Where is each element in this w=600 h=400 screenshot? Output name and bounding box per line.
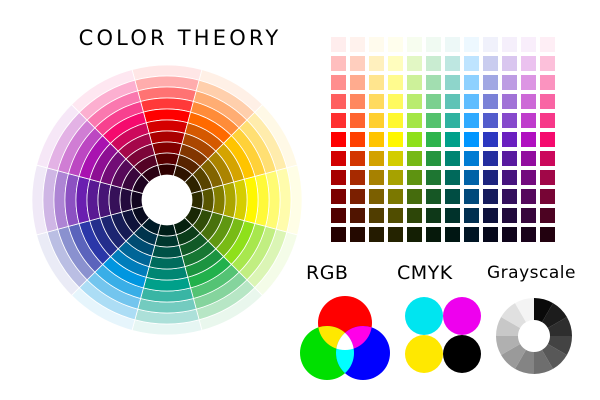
palette-swatch-r9-c1 — [350, 208, 365, 223]
palette-swatch-r2-c7 — [464, 75, 479, 90]
palette-swatch-r8-c5 — [426, 189, 441, 204]
grayscale-segments — [496, 298, 572, 374]
palette-swatch-r10-c3 — [388, 227, 403, 242]
palette-swatch-r0-c7 — [464, 37, 479, 52]
palette-swatch-r1-c9 — [502, 56, 517, 71]
palette-swatch-r10-c2 — [369, 227, 384, 242]
palette-swatch-r5-c3 — [388, 132, 403, 147]
palette-swatch-r8-c8 — [483, 189, 498, 204]
palette-swatch-r4-c11 — [540, 113, 555, 128]
palette-swatch-r5-c8 — [483, 132, 498, 147]
palette-swatch-r0-c11 — [540, 37, 555, 52]
palette-grid — [331, 37, 555, 242]
palette-swatch-r6-c1 — [350, 151, 365, 166]
palette-swatch-r2-c1 — [350, 75, 365, 90]
wheel-segment-teal-9 — [158, 224, 177, 236]
palette-swatch-r3-c1 — [350, 94, 365, 109]
palette-swatch-r7-c3 — [388, 170, 403, 185]
palette-swatch-r7-c4 — [407, 170, 422, 185]
wheel-segment-red-8 — [155, 153, 179, 165]
palette-swatch-r6-c8 — [483, 151, 498, 166]
palette-swatch-r2-c3 — [388, 75, 403, 90]
palette-swatch-r0-c3 — [388, 37, 403, 52]
palette-swatch-r9-c9 — [502, 208, 517, 223]
palette-swatch-r10-c1 — [350, 227, 365, 242]
wheel-center-hole — [142, 175, 192, 225]
palette-swatch-r3-c4 — [407, 94, 422, 109]
palette-swatch-r1-c10 — [521, 56, 536, 71]
wheel-segment-violet-8 — [120, 188, 132, 212]
palette-swatch-r7-c9 — [502, 170, 517, 185]
palette-swatch-r4-c6 — [445, 113, 460, 128]
palette-swatch-r2-c11 — [540, 75, 555, 90]
palette-swatch-r4-c3 — [388, 113, 403, 128]
palette-swatch-r4-c9 — [502, 113, 517, 128]
black-dot — [443, 335, 481, 373]
wheel-segment-violet-9 — [131, 191, 143, 210]
palette-swatch-r3-c11 — [540, 94, 555, 109]
wheel-segment-yellow-9 — [191, 191, 203, 210]
palette-swatch-r3-c5 — [426, 94, 441, 109]
palette-swatch-r0-c10 — [521, 37, 536, 52]
palette-swatch-r4-c2 — [369, 113, 384, 128]
palette-swatch-r3-c3 — [388, 94, 403, 109]
palette-swatch-r5-c4 — [407, 132, 422, 147]
rgb-diagram — [300, 295, 390, 383]
palette-swatch-r8-c0 — [331, 189, 346, 204]
palette-swatch-r10-c0 — [331, 227, 346, 242]
palette-swatch-r7-c2 — [369, 170, 384, 185]
palette-swatch-r10-c11 — [540, 227, 555, 242]
palette-swatch-r8-c2 — [369, 189, 384, 204]
palette-swatch-r6-c7 — [464, 151, 479, 166]
palette-swatch-r9-c6 — [445, 208, 460, 223]
palette-swatch-r5-c6 — [445, 132, 460, 147]
grayscale-label: Grayscale — [487, 263, 576, 283]
palette-swatch-r8-c1 — [350, 189, 365, 204]
grayscale-diagram — [494, 296, 574, 376]
palette-swatch-r4-c5 — [426, 113, 441, 128]
palette-swatch-r2-c5 — [426, 75, 441, 90]
wheel-segment-yellow-8 — [202, 188, 214, 212]
palette-swatch-r3-c7 — [464, 94, 479, 109]
palette-swatch-r6-c5 — [426, 151, 441, 166]
palette-swatch-r9-c4 — [407, 208, 422, 223]
palette-swatch-r1-c6 — [445, 56, 460, 71]
palette-swatch-r2-c2 — [369, 75, 384, 90]
palette-swatch-r6-c9 — [502, 151, 517, 166]
palette-swatch-r10-c6 — [445, 227, 460, 242]
wheel-segment-teal-8 — [155, 235, 179, 247]
palette-swatch-r0-c9 — [502, 37, 517, 52]
cyan-dot — [405, 297, 443, 335]
palette-swatch-r8-c9 — [502, 189, 517, 204]
palette-swatch-r2-c10 — [521, 75, 536, 90]
palette-swatch-r6-c4 — [407, 151, 422, 166]
palette-swatch-r6-c10 — [521, 151, 536, 166]
palette-swatch-r9-c5 — [426, 208, 441, 223]
palette-swatch-r6-c11 — [540, 151, 555, 166]
palette-swatch-r4-c0 — [331, 113, 346, 128]
cmyk-label: CMYK — [397, 262, 453, 284]
palette-swatch-r2-c4 — [407, 75, 422, 90]
palette-swatch-r1-c7 — [464, 56, 479, 71]
palette-swatch-r10-c8 — [483, 227, 498, 242]
rgb-label: RGB — [306, 262, 348, 284]
palette-swatch-r8-c6 — [445, 189, 460, 204]
magenta-dot — [443, 297, 481, 335]
palette-swatch-r7-c10 — [521, 170, 536, 185]
palette-swatch-r7-c0 — [331, 170, 346, 185]
palette-swatch-r7-c7 — [464, 170, 479, 185]
palette-swatch-r10-c4 — [407, 227, 422, 242]
palette-swatch-r5-c0 — [331, 132, 346, 147]
palette-swatch-r9-c0 — [331, 208, 346, 223]
color-wheel-sectors — [32, 65, 302, 335]
palette-swatch-r0-c4 — [407, 37, 422, 52]
palette-swatch-r4-c8 — [483, 113, 498, 128]
palette-swatch-r4-c7 — [464, 113, 479, 128]
palette-swatch-r9-c8 — [483, 208, 498, 223]
palette-swatch-r10-c5 — [426, 227, 441, 242]
palette-swatch-r6-c6 — [445, 151, 460, 166]
palette-swatch-r3-c0 — [331, 94, 346, 109]
palette-swatch-r3-c8 — [483, 94, 498, 109]
palette-swatch-r1-c3 — [388, 56, 403, 71]
palette-swatch-r0-c6 — [445, 37, 460, 52]
palette-swatch-r0-c8 — [483, 37, 498, 52]
palette-swatch-r7-c5 — [426, 170, 441, 185]
color-wheel — [32, 65, 302, 335]
palette-swatch-r8-c11 — [540, 189, 555, 204]
palette-swatch-r1-c8 — [483, 56, 498, 71]
palette-swatch-r5-c5 — [426, 132, 441, 147]
palette-swatch-r7-c1 — [350, 170, 365, 185]
palette-swatch-r9-c7 — [464, 208, 479, 223]
palette-swatch-r2-c9 — [502, 75, 517, 90]
palette-swatch-r4-c1 — [350, 113, 365, 128]
palette-swatch-r1-c1 — [350, 56, 365, 71]
palette-swatch-r7-c6 — [445, 170, 460, 185]
page-title: COLOR THEORY — [60, 26, 300, 50]
palette-swatch-r8-c10 — [521, 189, 536, 204]
palette-swatch-r7-c11 — [540, 170, 555, 185]
palette-swatch-r5-c10 — [521, 132, 536, 147]
palette-swatch-r8-c7 — [464, 189, 479, 204]
palette-swatch-r5-c1 — [350, 132, 365, 147]
palette-swatch-r10-c9 — [502, 227, 517, 242]
palette-swatch-r5-c2 — [369, 132, 384, 147]
palette-swatch-r1-c4 — [407, 56, 422, 71]
palette-swatch-r3-c2 — [369, 94, 384, 109]
palette-swatch-r3-c6 — [445, 94, 460, 109]
palette-swatch-r4-c10 — [521, 113, 536, 128]
palette-swatch-r5-c7 — [464, 132, 479, 147]
palette-swatch-r2-c6 — [445, 75, 460, 90]
palette-swatch-r0-c5 — [426, 37, 441, 52]
palette-swatch-r0-c0 — [331, 37, 346, 52]
palette-swatch-r5-c9 — [502, 132, 517, 147]
palette-swatch-r6-c2 — [369, 151, 384, 166]
palette-swatch-r3-c10 — [521, 94, 536, 109]
wheel-segment-red-9 — [158, 164, 177, 176]
palette-swatch-r3-c9 — [502, 94, 517, 109]
yellow-dot — [405, 335, 443, 373]
palette-swatch-r1-c2 — [369, 56, 384, 71]
palette-swatch-r1-c11 — [540, 56, 555, 71]
palette-swatch-r7-c8 — [483, 170, 498, 185]
palette-swatch-r9-c2 — [369, 208, 384, 223]
palette-swatch-r2-c0 — [331, 75, 346, 90]
palette-swatch-r6-c0 — [331, 151, 346, 166]
palette-swatch-r0-c2 — [369, 37, 384, 52]
palette-swatch-r6-c3 — [388, 151, 403, 166]
palette-swatch-r5-c11 — [540, 132, 555, 147]
palette-swatch-r0-c1 — [350, 37, 365, 52]
palette-swatch-r8-c3 — [388, 189, 403, 204]
cmyk-diagram — [404, 296, 482, 374]
palette-swatch-r4-c4 — [407, 113, 422, 128]
palette-swatch-r9-c11 — [540, 208, 555, 223]
palette-swatch-r9-c10 — [521, 208, 536, 223]
palette-swatch-r1-c5 — [426, 56, 441, 71]
palette-swatch-r10-c10 — [521, 227, 536, 242]
palette-swatch-r9-c3 — [388, 208, 403, 223]
palette-swatch-r10-c7 — [464, 227, 479, 242]
palette-swatch-r1-c0 — [331, 56, 346, 71]
palette-swatch-r2-c8 — [483, 75, 498, 90]
palette-swatch-r8-c4 — [407, 189, 422, 204]
